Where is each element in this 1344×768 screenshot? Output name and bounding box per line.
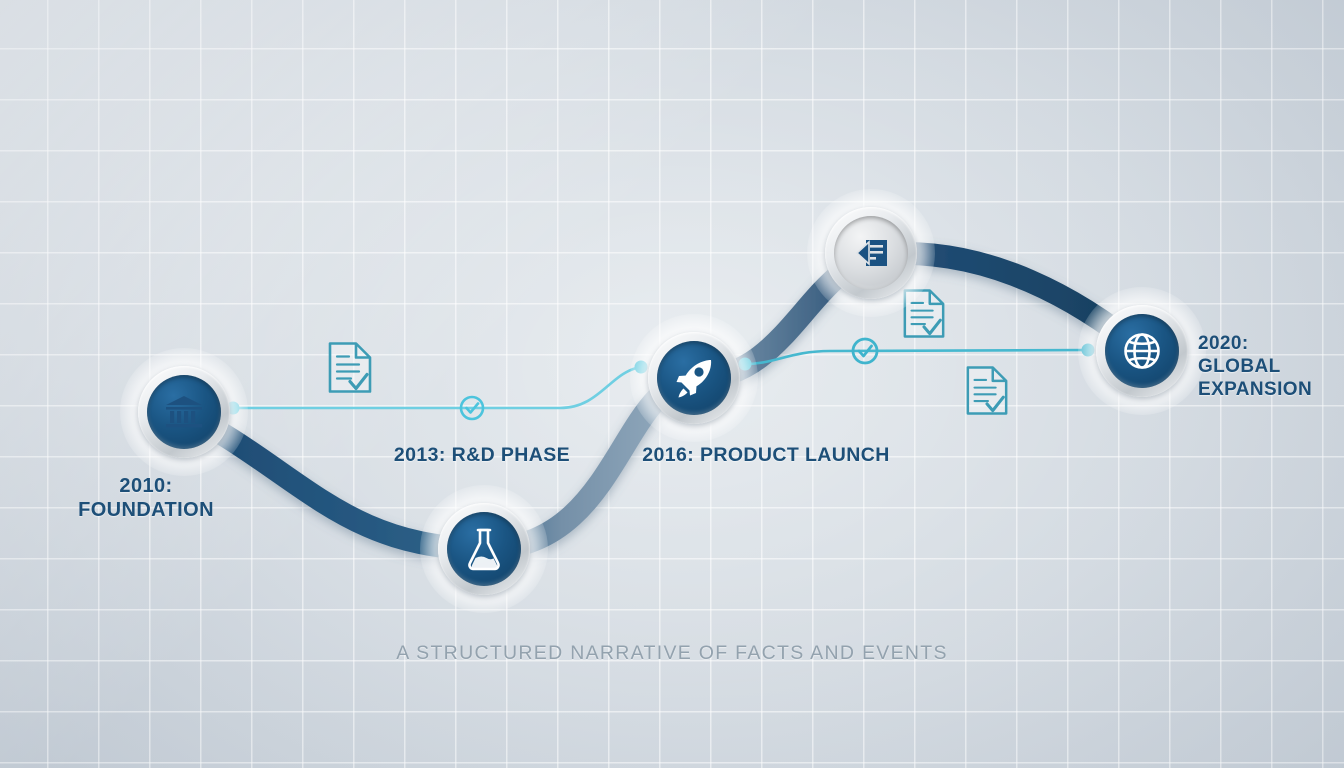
bank-icon: [164, 394, 204, 430]
infographic-canvas: 2010: FOUNDATION 2013: R&D PHASE 2016: P…: [0, 0, 1344, 768]
document-check-icon: [964, 364, 1010, 423]
globe-icon: [1122, 331, 1162, 371]
archive-arrow-icon: [852, 236, 890, 270]
document-check-icon: [326, 340, 374, 401]
milestone-label-product-launch: 2016: PRODUCT LAUNCH: [642, 444, 889, 468]
infographic-caption: A STRUCTURED NARRATIVE OF FACTS AND EVEN…: [396, 642, 948, 665]
milestone-label-rd-phase: 2013: R&D PHASE: [394, 444, 570, 468]
milestone-node-foundation[interactable]: [138, 366, 230, 458]
milestone-node-archive[interactable]: [825, 207, 917, 299]
flask-icon: [466, 527, 502, 571]
connector-2-line: [745, 350, 1088, 364]
milestone-label-foundation: 2010: FOUNDATION: [78, 474, 214, 523]
milestone-node-product-launch[interactable]: [648, 332, 740, 424]
milestone-node-global-expansion[interactable]: [1096, 305, 1188, 397]
node-disc: [147, 375, 221, 449]
node-disc: [834, 216, 908, 290]
milestone-node-rd-phase[interactable]: [438, 503, 530, 595]
connector-1-line: [233, 367, 641, 408]
connector-1: [227, 361, 648, 420]
node-disc: [657, 341, 731, 415]
rocket-icon: [673, 357, 715, 399]
node-disc: [447, 512, 521, 586]
node-disc: [1105, 314, 1179, 388]
milestone-label-global-expansion: 2020: GLOBAL EXPANSION: [1198, 332, 1312, 402]
